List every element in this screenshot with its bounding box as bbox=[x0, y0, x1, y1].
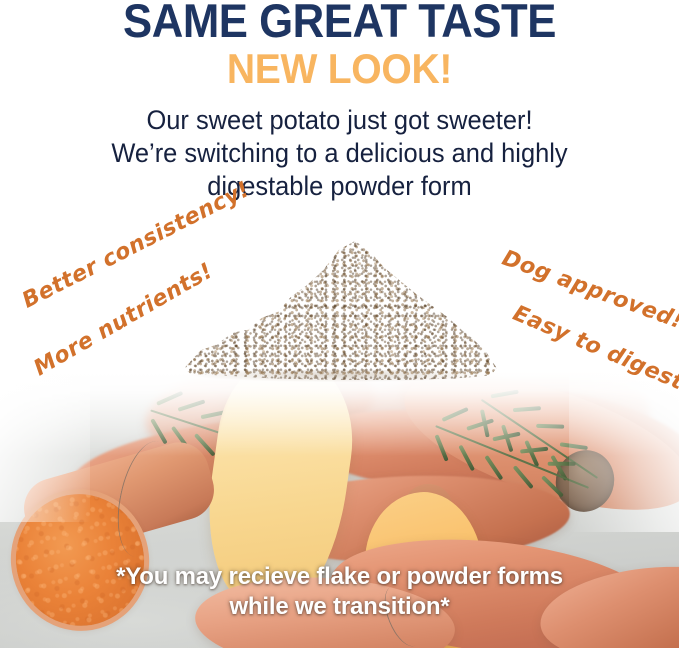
headline-new-look: NEW LOOK! bbox=[24, 47, 655, 91]
subhead-line-1: Our sweet potato just got sweeter! bbox=[14, 104, 666, 137]
powder-pile-shape bbox=[178, 232, 500, 380]
photo-left-fade bbox=[0, 372, 90, 522]
photo-right-fade bbox=[569, 372, 679, 532]
headline-same-great-taste: SAME GREAT TASTE bbox=[24, 0, 655, 45]
subhead-line-2: We’re switching to a delicious and highl… bbox=[14, 137, 666, 170]
powder-drop-shadow bbox=[191, 370, 487, 382]
disclaimer-line-1: *You may recieve flake or powder forms bbox=[0, 562, 679, 592]
subhead-block: Our sweet potato just got sweeter! We’re… bbox=[14, 104, 666, 203]
headline-block: SAME GREAT TASTE NEW LOOK! bbox=[0, 0, 679, 91]
powder-grain-texture bbox=[178, 232, 500, 380]
promo-graphic: SAME GREAT TASTE NEW LOOK! Our sweet pot… bbox=[0, 0, 679, 648]
disclaimer-block: *You may recieve flake or powder forms w… bbox=[0, 562, 679, 622]
disclaimer-line-2: while we transition* bbox=[0, 592, 679, 622]
subhead-line-3: digestable powder form bbox=[14, 170, 666, 203]
sweet-potato-powder-mound bbox=[178, 232, 500, 380]
